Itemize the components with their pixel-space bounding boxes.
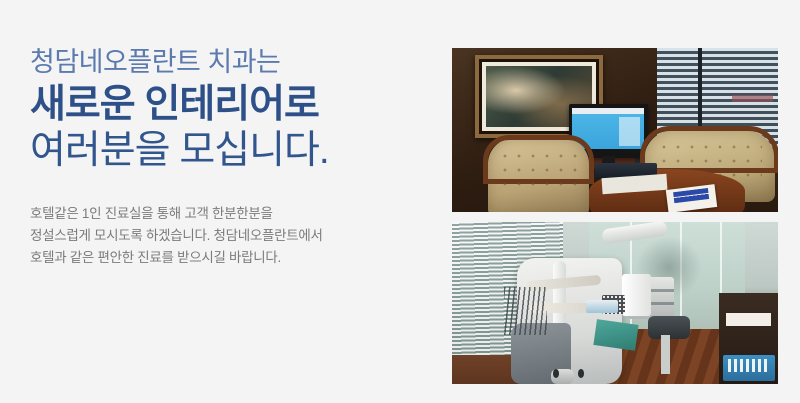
headline-line-3: 여러분을 모십니다. [30,128,420,174]
brochure-cover-text [673,189,709,204]
photo-column [452,48,778,384]
consultation-room-scene [452,48,778,212]
copy-block: 청담네오플란트 치과는 새로운 인테리어로 여러분을 모십니다. [30,42,420,174]
body-copy-line-3: 호텔과 같은 편안한 진료를 받으시길 바랍니다. [30,247,430,269]
monitor-stand [602,156,615,162]
body-copy-line-2: 정설스럽게 모시도록 하겠습니다. 청담네오플란트에서 [30,225,430,247]
supply-tray [723,355,775,381]
upholstery-tufting [498,149,579,190]
consultation-room-photo [452,48,778,212]
body-copy-line-1: 호텔같은 1인 진료실을 통해 고객 한분한분을 [30,203,430,225]
antique-armchair [488,138,589,212]
stool-leg [661,335,671,374]
page-title: 청담네오플란트 치과는 새로운 인테리어로 여러분을 모십니다. [30,42,420,174]
headline-line-1: 청담네오플란트 치과는 [30,42,420,82]
treatment-room-photo [452,222,778,384]
window-reflection [732,95,773,102]
paper-on-counter [726,313,772,326]
body-copy: 호텔같은 1인 진료실을 통해 고객 한분한분을 정설스럽게 모시도록 하겠습니… [30,203,430,269]
white-canister [622,274,651,316]
headline-line-2: 새로운 인테리어로 [30,82,420,128]
caster-wheel [578,369,584,378]
suction-hoses [504,287,546,336]
treatment-room-scene [452,222,778,384]
blue-supply-box [586,300,619,313]
caster-wheel [553,369,559,378]
clinic-promo-banner: 청담네오플란트 치과는 새로운 인테리어로 여러분을 모십니다. 호텔같은 1인… [0,0,800,403]
